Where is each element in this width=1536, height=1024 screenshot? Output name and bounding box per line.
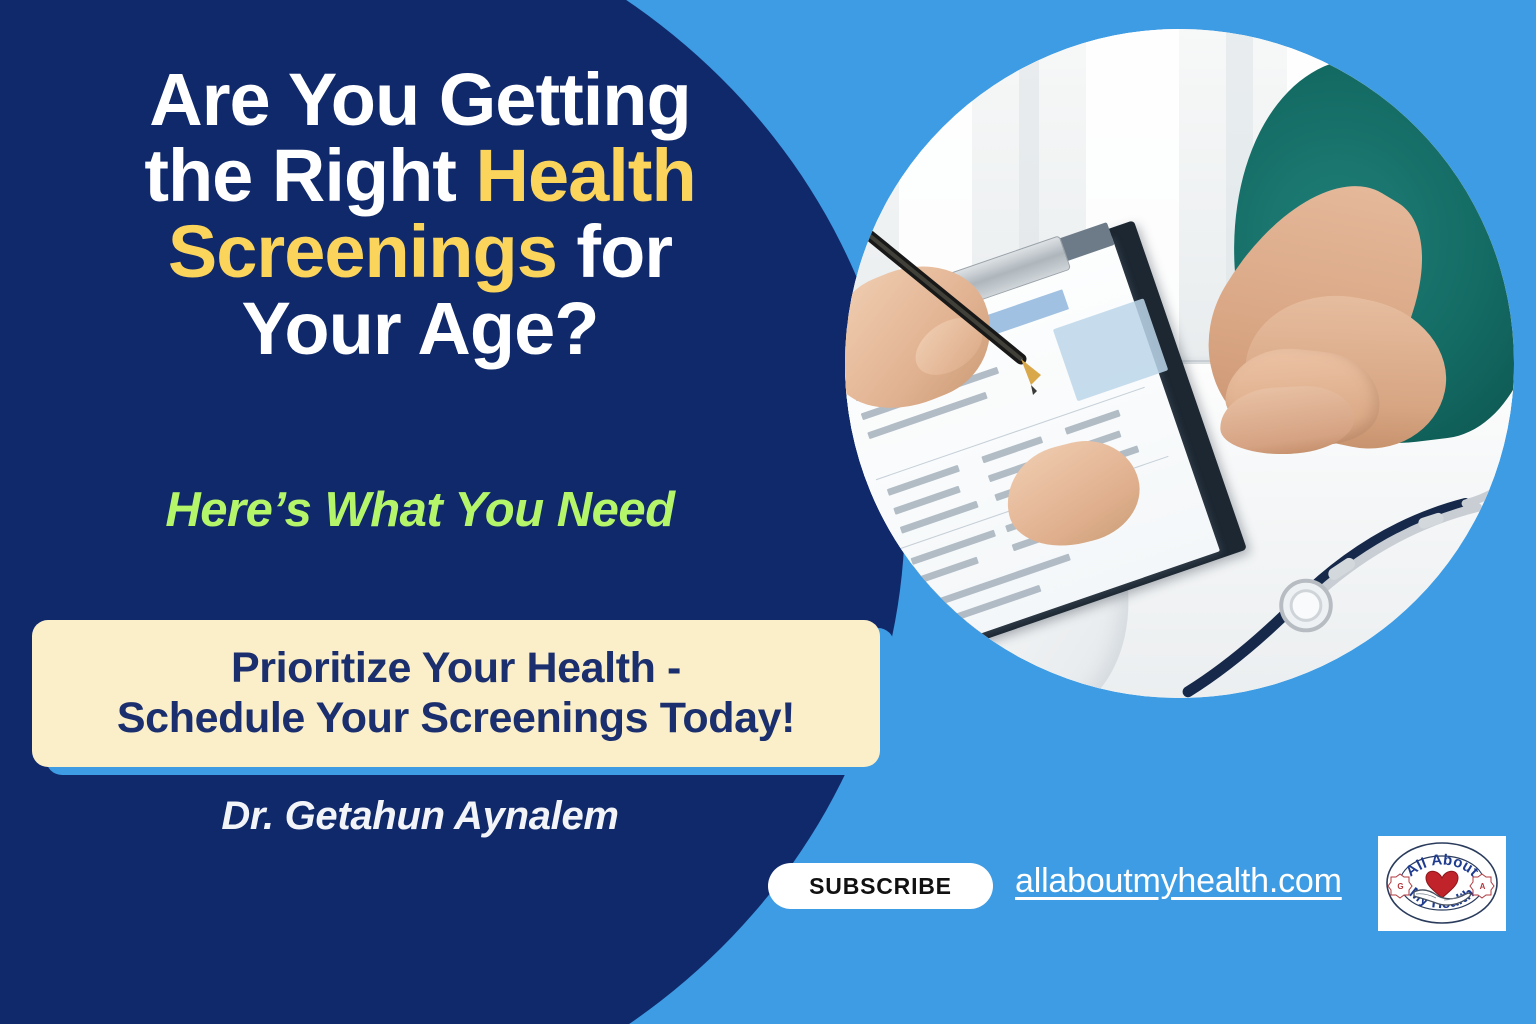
- website-url-link[interactable]: allaboutmyhealth.com: [1015, 862, 1342, 901]
- headline-line-2-text: the Right: [144, 134, 475, 217]
- brand-logo: All About My Health G A: [1378, 836, 1506, 931]
- photo-inner: [845, 29, 1514, 698]
- subscribe-button[interactable]: SUBSCRIBE: [768, 863, 993, 909]
- subtitle: Here’s What You Need: [40, 484, 800, 538]
- page-title: Are You Getting the Right Health Screeni…: [40, 62, 800, 367]
- headline-line-1: Are You Getting: [40, 62, 800, 138]
- poster-canvas: Are You Getting the Right Health Screeni…: [0, 0, 1536, 1024]
- doctor-patient-photo: [845, 29, 1514, 698]
- logo-right-badge: A: [1470, 874, 1494, 898]
- cta-banner-box: Prioritize Your Health - Schedule Your S…: [32, 620, 880, 767]
- cta-banner: Prioritize Your Health - Schedule Your S…: [32, 620, 894, 775]
- logo-artwork: All About My Health G A: [1378, 836, 1506, 931]
- author-name: Dr. Getahun Aynalem: [40, 794, 800, 839]
- headline-line-1-text: Are You Getting: [149, 58, 690, 141]
- text-column: Are You Getting the Right Health Screeni…: [0, 0, 840, 1024]
- headline-accent-screenings: Screenings: [168, 210, 557, 293]
- cta-line-1: Prioritize Your Health -: [231, 644, 681, 694]
- headline-line-3-text: for: [557, 210, 672, 293]
- headline-line-2: the Right Health: [40, 138, 800, 214]
- logo-left-badge: G: [1388, 874, 1412, 898]
- logo-right-badge-text: A: [1480, 882, 1486, 891]
- headline-line-3: Screenings for: [40, 214, 800, 290]
- cta-line-2: Schedule Your Screenings Today!: [117, 694, 795, 744]
- logo-left-badge-text: G: [1397, 882, 1403, 891]
- headline-line-4-text: Your Age?: [242, 287, 599, 370]
- headline-accent-health: Health: [476, 134, 696, 217]
- subscribe-button-label: SUBSCRIBE: [809, 873, 952, 900]
- headline-line-4: Your Age?: [40, 291, 800, 367]
